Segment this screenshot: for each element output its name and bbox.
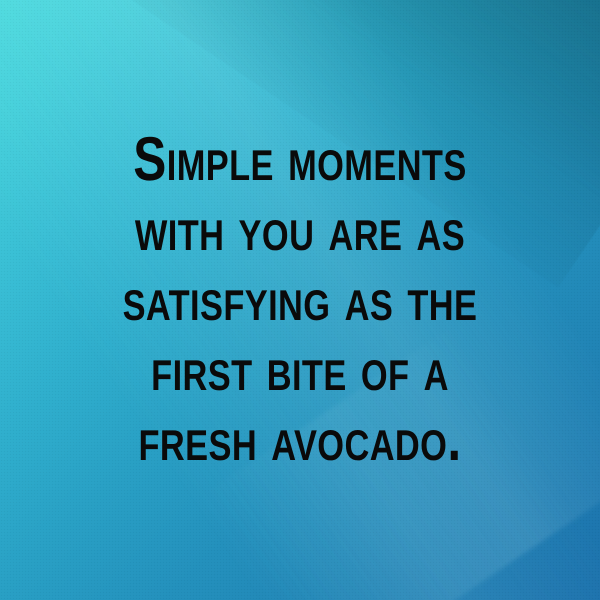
quote-line-3: satisfying as the: [102, 265, 499, 335]
quote-line-1: Simple moments: [102, 125, 499, 195]
quote-text-block: Simple moments with you are as satisfyin…: [0, 0, 600, 600]
quote-line-4: first bite of a: [102, 335, 499, 405]
quote-line-5: fresh avocado.: [102, 405, 499, 475]
quote-poster: Simple moments with you are as satisfyin…: [0, 0, 600, 600]
quote-line-2: with you are as: [102, 195, 499, 265]
